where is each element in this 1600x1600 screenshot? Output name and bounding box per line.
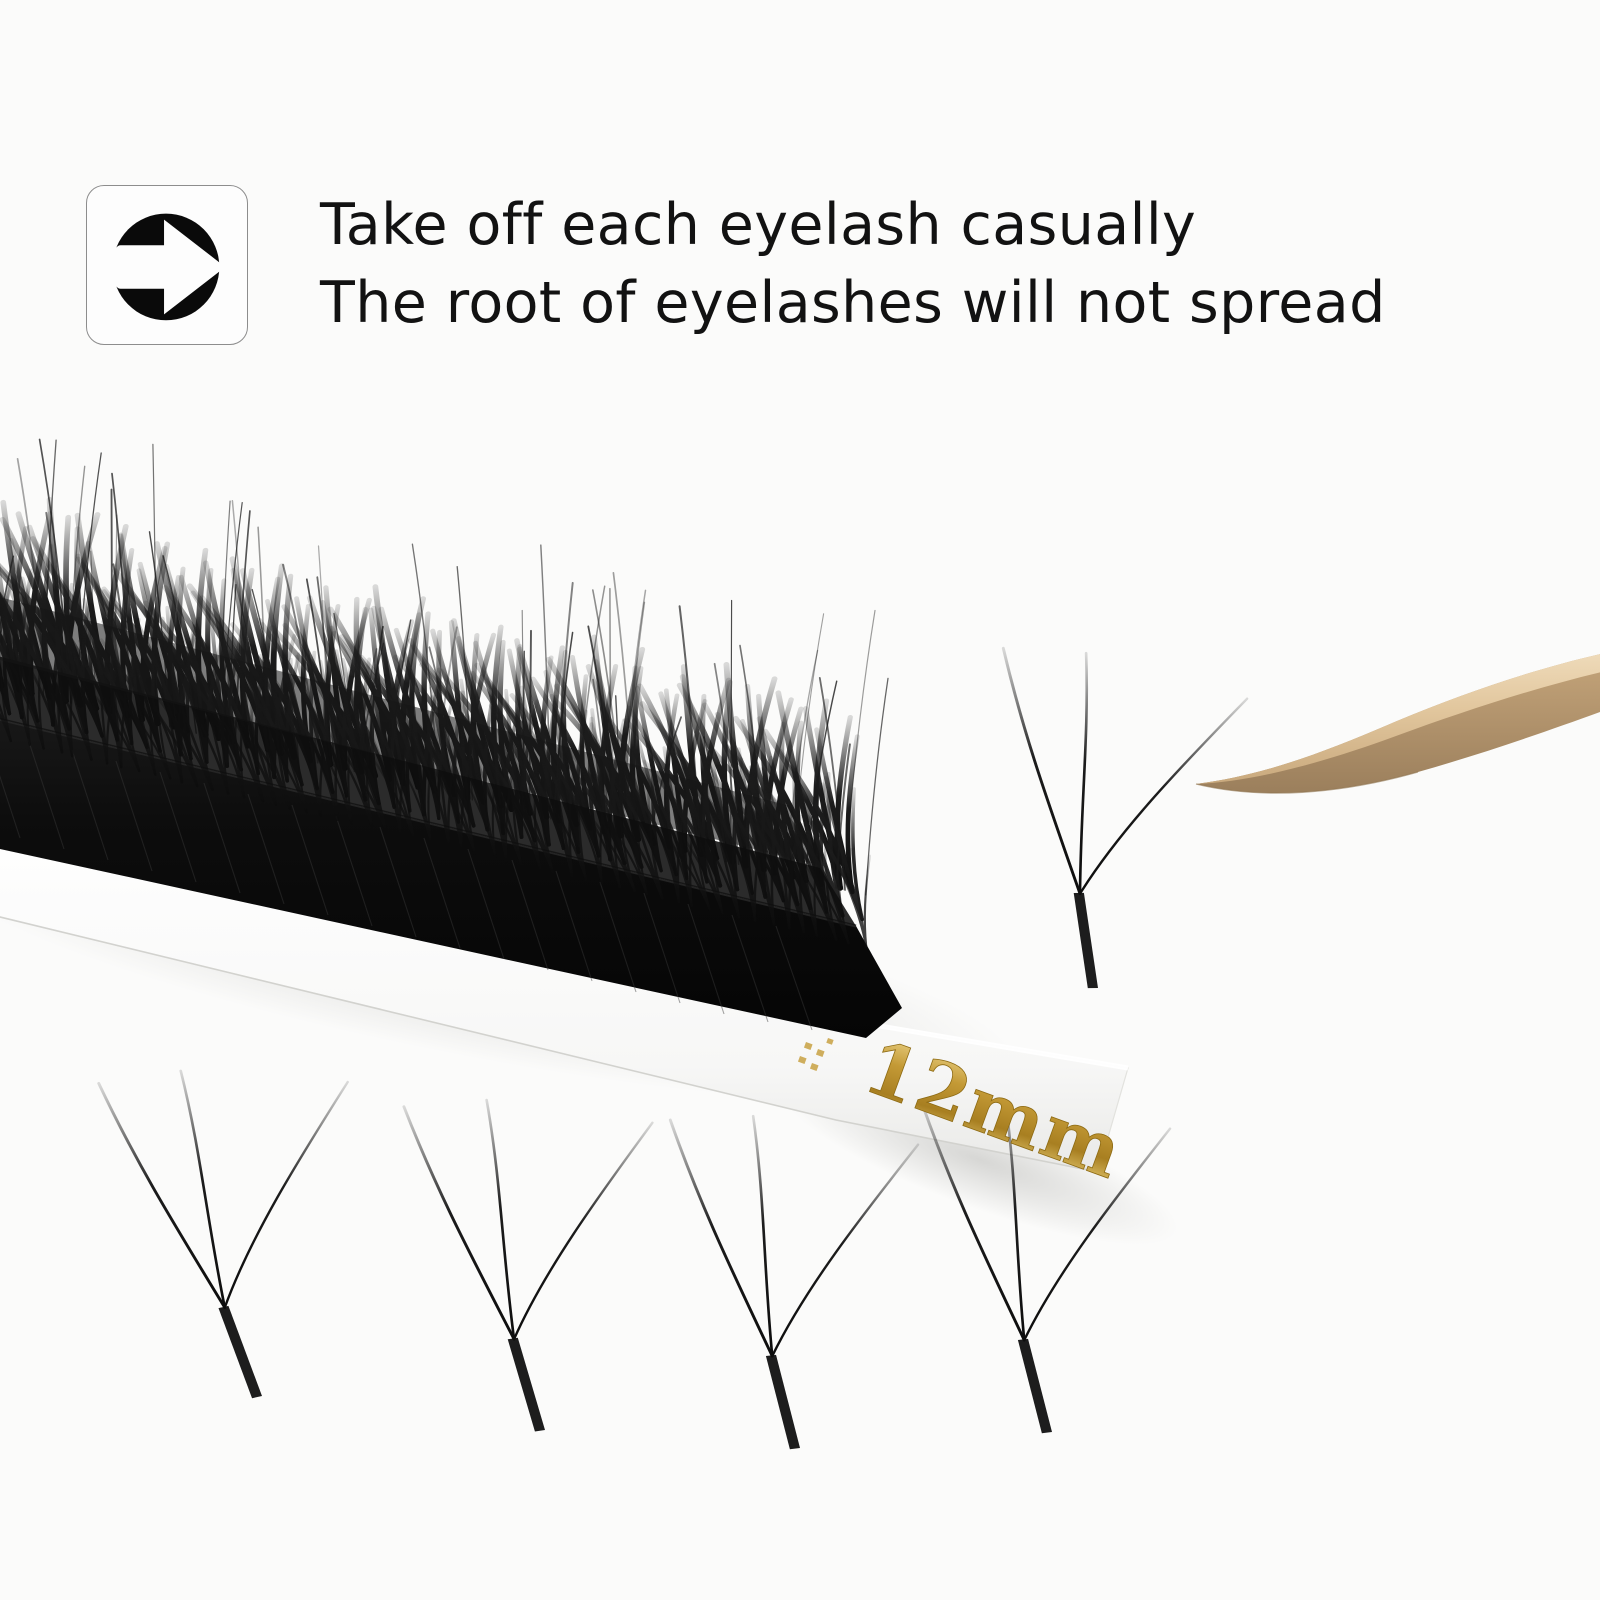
lash-product-illustration: 12mm	[0, 0, 1600, 1600]
product-photo: 12mm Take off each eyelash casually The …	[0, 0, 1600, 1600]
